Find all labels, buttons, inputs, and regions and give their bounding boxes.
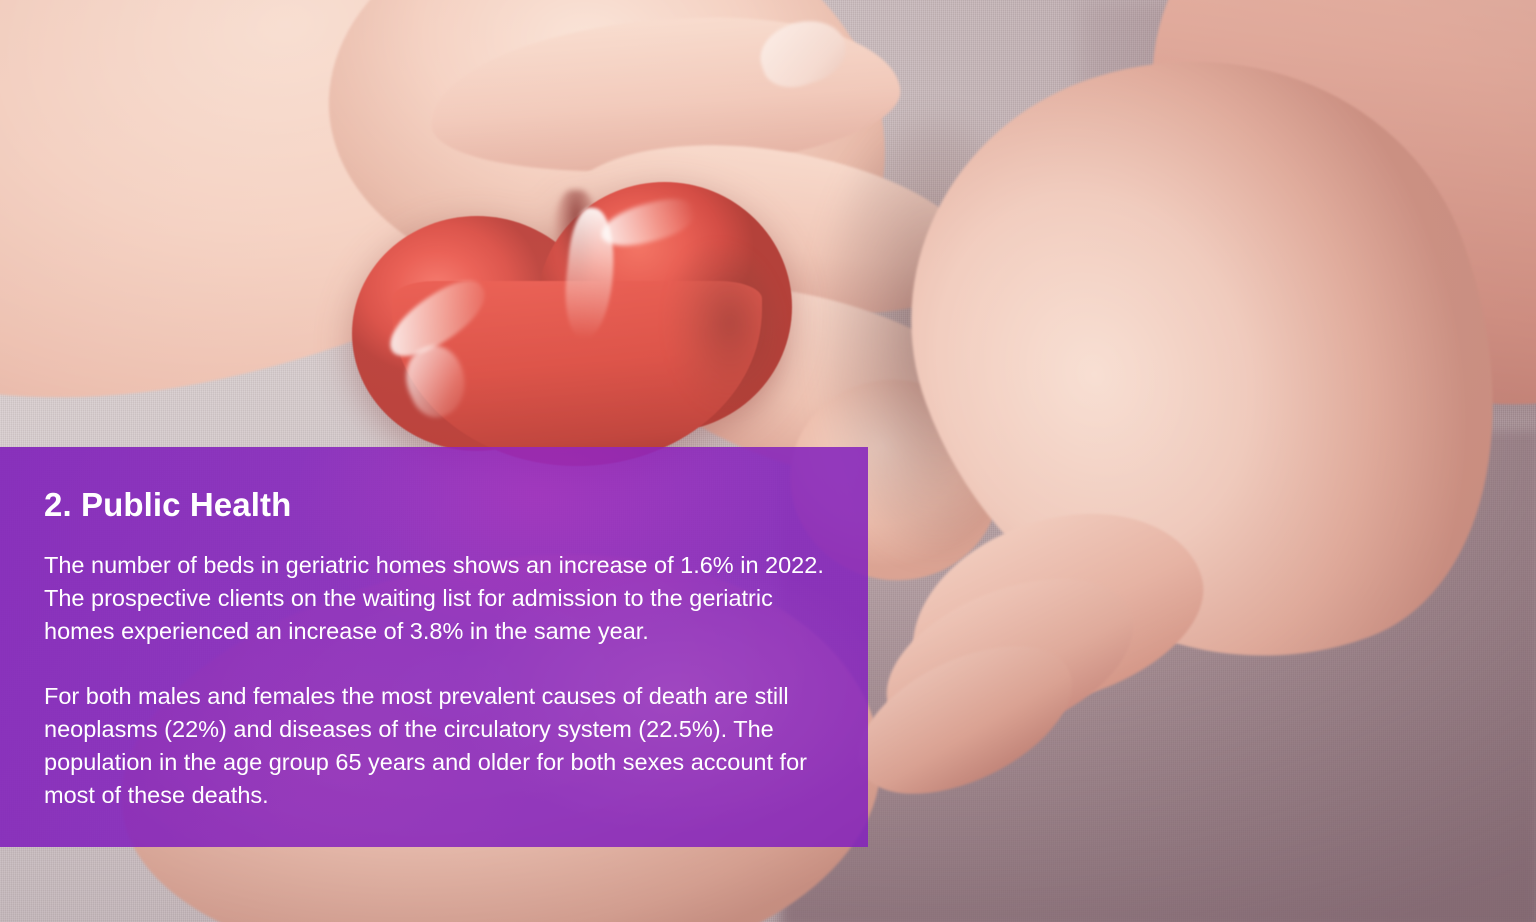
- slide: 2. Public Health The number of beds in g…: [0, 0, 1536, 922]
- content-panel: 2. Public Health The number of beds in g…: [0, 447, 868, 847]
- heart-icon: [352, 176, 792, 466]
- page-title: 2. Public Health: [44, 487, 830, 523]
- body-paragraph-1: The number of beds in geriatric homes sh…: [44, 549, 830, 648]
- heart-shading: [652, 246, 782, 436]
- body-paragraph-2: For both males and females the most prev…: [44, 680, 830, 812]
